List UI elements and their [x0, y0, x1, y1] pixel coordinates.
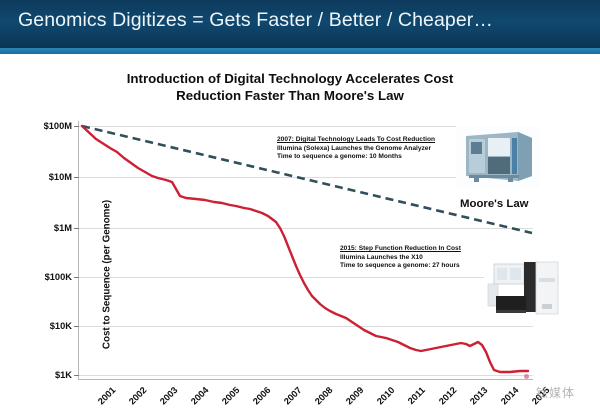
watermark-dot: [524, 374, 529, 379]
x-tick-2004: 2004: [189, 385, 211, 407]
annotation-2015-headline: 2015: Step Function Reduction In Cost: [340, 245, 515, 254]
x-tick-2001: 2001: [96, 385, 118, 407]
genome-analyzer-image: [456, 126, 540, 188]
x-tick-2007: 2007: [282, 385, 304, 407]
watermark-text: 钛媒体: [536, 384, 575, 401]
x10-instrument-image: [484, 258, 562, 322]
x-tick-2009: 2009: [344, 385, 366, 407]
x-tick-2014: 2014: [499, 385, 521, 407]
annotation-2007-line2: Illumina (Solexa) Launches the Genome An…: [277, 145, 457, 154]
x-tick-2013: 2013: [468, 385, 490, 407]
x-tick-2002: 2002: [127, 385, 149, 407]
genome-analyzer-icon: [456, 126, 540, 188]
x10-instrument-icon: [484, 258, 562, 322]
moores-law-label: Moore's Law: [460, 198, 529, 210]
slide-canvas: Genomics Digitizes = Gets Faster / Bette…: [0, 0, 600, 415]
x-tick-2003: 2003: [158, 385, 180, 407]
x-tick-2010: 2010: [375, 385, 397, 407]
x-tick-2011: 2011: [406, 385, 427, 406]
x-tick-2008: 2008: [313, 385, 335, 407]
annotation-2007: 2007: Digital Technology Leads To Cost R…: [277, 136, 457, 162]
x-tick-2012: 2012: [437, 385, 459, 407]
annotation-2007-headline: 2007: Digital Technology Leads To Cost R…: [277, 136, 457, 145]
x-tick-2005: 2005: [220, 385, 242, 407]
x-tick-2006: 2006: [251, 385, 273, 407]
annotation-2007-line3: Time to sequence a genome: 10 Months: [277, 153, 457, 162]
